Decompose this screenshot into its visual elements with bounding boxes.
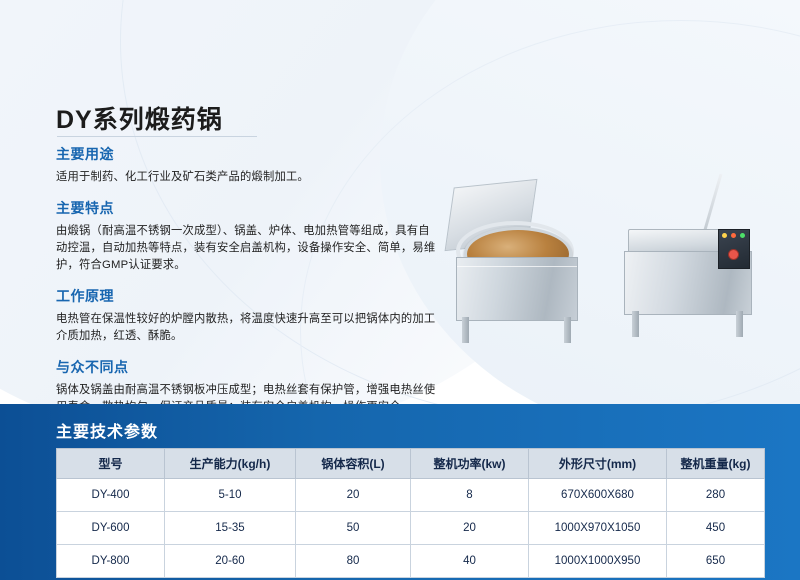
machine-closed-lid-leg-left <box>632 311 639 337</box>
section-principle-heading: 工作原理 <box>56 286 436 306</box>
cell-capacity: 15-35 <box>165 512 296 545</box>
cell-capacity: 20-60 <box>165 545 296 578</box>
title-underline <box>57 136 257 137</box>
table-row: DY-600 15-35 50 20 1000X970X1050 450 <box>57 512 765 545</box>
cell-power: 40 <box>411 545 529 578</box>
section-features-body: 由煅锅（耐高温不锈钢一次成型）、锅盖、炉体、电加热管等组成，具有自动控温，自动加… <box>56 223 436 274</box>
section-principle: 工作原理 电热管在保温性较好的炉膛内散热，将温度快速升高至可以把锅体内的加工介质… <box>56 286 436 345</box>
cell-weight: 650 <box>667 545 765 578</box>
cell-power: 8 <box>411 479 529 512</box>
section-features-heading: 主要特点 <box>56 198 436 218</box>
machine-closed-lid-leg-right <box>736 311 743 337</box>
indicator-light-orange-icon <box>731 233 736 238</box>
table-header-row: 型号 生产能力(kg/h) 锅体容积(L) 整机功率(kw) 外形尺寸(mm) … <box>57 449 765 479</box>
column-header-capacity: 生产能力(kg/h) <box>165 449 296 479</box>
page-title: DY系列煅药锅 <box>56 100 223 136</box>
table-row: DY-800 20-60 80 40 1000X1000X950 650 <box>57 545 765 578</box>
product-brochure-page: DY系列煅药锅 主要用途 适用于制药、化工行业及矿石类产品的煅制加工。 主要特点… <box>0 0 800 580</box>
column-header-weight: 整机重量(kg) <box>667 449 765 479</box>
machine-open-lid-body <box>456 257 578 321</box>
cell-dimensions: 670X600X680 <box>529 479 667 512</box>
section-differentiators-heading: 与众不同点 <box>56 357 436 377</box>
section-usage-body: 适用于制药、化工行业及矿石类产品的煅制加工。 <box>56 169 436 186</box>
column-header-volume: 锅体容积(L) <box>296 449 411 479</box>
description-sections: 主要用途 适用于制药、化工行业及矿石类产品的煅制加工。 主要特点 由煅锅（耐高温… <box>56 144 436 428</box>
section-usage-heading: 主要用途 <box>56 144 436 164</box>
cell-volume: 80 <box>296 545 411 578</box>
product-photos <box>420 165 780 355</box>
section-usage: 主要用途 适用于制药、化工行业及矿石类产品的煅制加工。 <box>56 144 436 186</box>
cell-weight: 280 <box>667 479 765 512</box>
spec-band-title: 主要技术参数 <box>56 418 158 442</box>
section-features: 主要特点 由煅锅（耐高温不锈钢一次成型）、锅盖、炉体、电加热管等组成，具有自动控… <box>56 198 436 274</box>
column-header-power: 整机功率(kw) <box>411 449 529 479</box>
cell-volume: 50 <box>296 512 411 545</box>
cell-capacity: 5-10 <box>165 479 296 512</box>
column-header-model: 型号 <box>57 449 165 479</box>
cell-volume: 20 <box>296 479 411 512</box>
machine-open-lid-leg-left <box>462 317 469 343</box>
section-principle-body: 电热管在保温性较好的炉膛内散热，将温度快速升高至可以把锅体内的加工介质加热，红透… <box>56 311 436 345</box>
cell-weight: 450 <box>667 512 765 545</box>
cell-model: DY-400 <box>57 479 165 512</box>
indicator-light-green-icon <box>740 233 745 238</box>
cell-power: 20 <box>411 512 529 545</box>
cell-dimensions: 1000X970X1050 <box>529 512 667 545</box>
emergency-stop-knob-icon <box>728 249 739 260</box>
cell-dimensions: 1000X1000X950 <box>529 545 667 578</box>
indicator-light-yellow-icon <box>722 233 727 238</box>
machine-open-lid-leg-right <box>564 317 571 343</box>
cell-model: DY-600 <box>57 512 165 545</box>
machine-closed-lid-illustration <box>610 171 775 349</box>
machine-open-lid-illustration <box>430 183 605 348</box>
cell-model: DY-800 <box>57 545 165 578</box>
column-header-dimensions: 外形尺寸(mm) <box>529 449 667 479</box>
spec-table: 型号 生产能力(kg/h) 锅体容积(L) 整机功率(kw) 外形尺寸(mm) … <box>56 448 765 578</box>
table-row: DY-400 5-10 20 8 670X600X680 280 <box>57 479 765 512</box>
